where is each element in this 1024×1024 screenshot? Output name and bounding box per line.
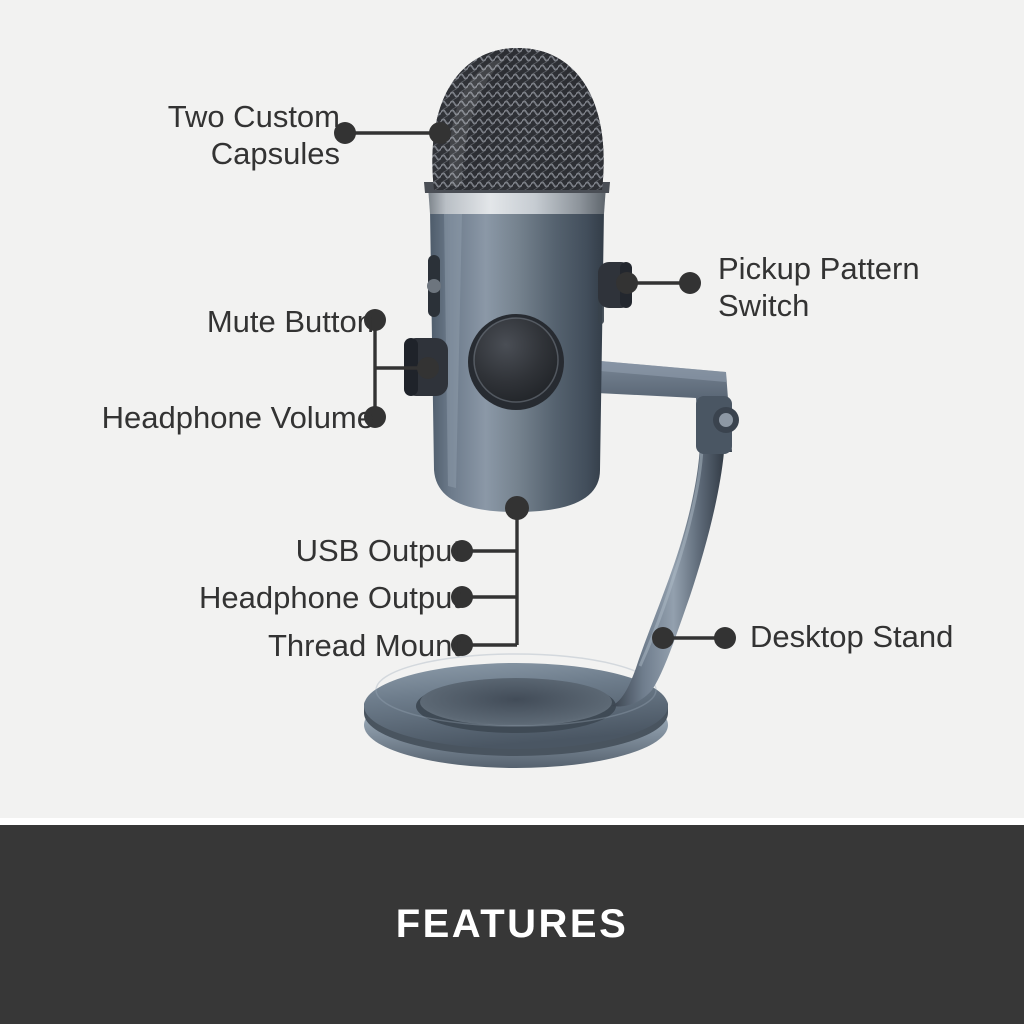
dot-left-target — [417, 357, 439, 379]
product-feature-diagram: Two Custom Capsules Pickup Pattern Switc… — [0, 0, 1024, 1024]
dot-stand-label — [714, 627, 736, 649]
footer-banner: FEATURES — [0, 825, 1024, 1024]
dot-pickup-label — [679, 272, 701, 294]
callout-label-thread-mount: Thread Mount — [268, 627, 461, 664]
callout-label-desktop-stand: Desktop Stand — [750, 618, 953, 655]
footer-title: FEATURES — [396, 902, 629, 947]
callout-label-two-custom-capsules: Two Custom Capsules — [168, 98, 340, 172]
callout-label-pickup-pattern-switch: Pickup Pattern Switch — [718, 250, 920, 324]
dot-stand-target — [652, 627, 674, 649]
divider-strip — [0, 818, 1024, 825]
dot-capsules-target — [429, 122, 451, 144]
callout-label-usb-output: USB Output — [296, 532, 461, 569]
dot-pickup-target — [616, 272, 638, 294]
callout-label-headphone-output: Headphone Output — [199, 579, 461, 616]
callout-label-headphone-volume: Headphone Volume — [102, 399, 374, 436]
callout-label-mute-button: Mute Button — [207, 303, 374, 340]
dot-ports-target — [505, 496, 529, 520]
diagram-canvas: Two Custom Capsules Pickup Pattern Switc… — [0, 0, 1024, 818]
